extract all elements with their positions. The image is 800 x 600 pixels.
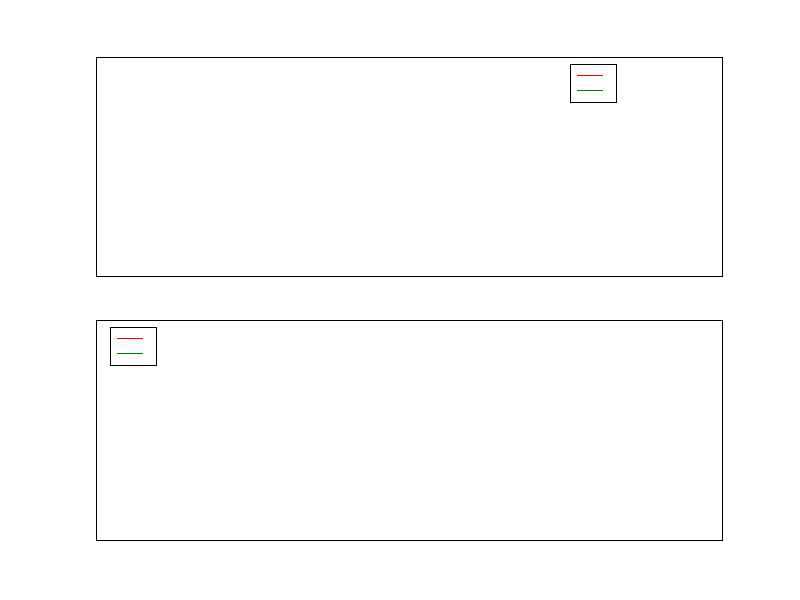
top-spectrum-axes	[96, 57, 723, 277]
legend-entry	[117, 346, 150, 361]
legend-entry	[117, 331, 150, 346]
bottom-spectrum-plot-area	[97, 321, 722, 540]
legend-line-swatch-red	[577, 75, 603, 76]
top-legend	[570, 64, 617, 103]
legend-line-swatch-red	[117, 338, 143, 339]
legend-line-swatch-green	[577, 90, 603, 91]
legend-entry	[577, 83, 610, 98]
top-spectrum-plot-area	[97, 58, 722, 276]
bottom-spectrum-axes	[96, 320, 723, 541]
bottom-legend	[110, 327, 157, 366]
legend-entry	[577, 68, 610, 83]
legend-line-swatch-green	[117, 353, 143, 354]
figure-canvas	[0, 0, 800, 600]
